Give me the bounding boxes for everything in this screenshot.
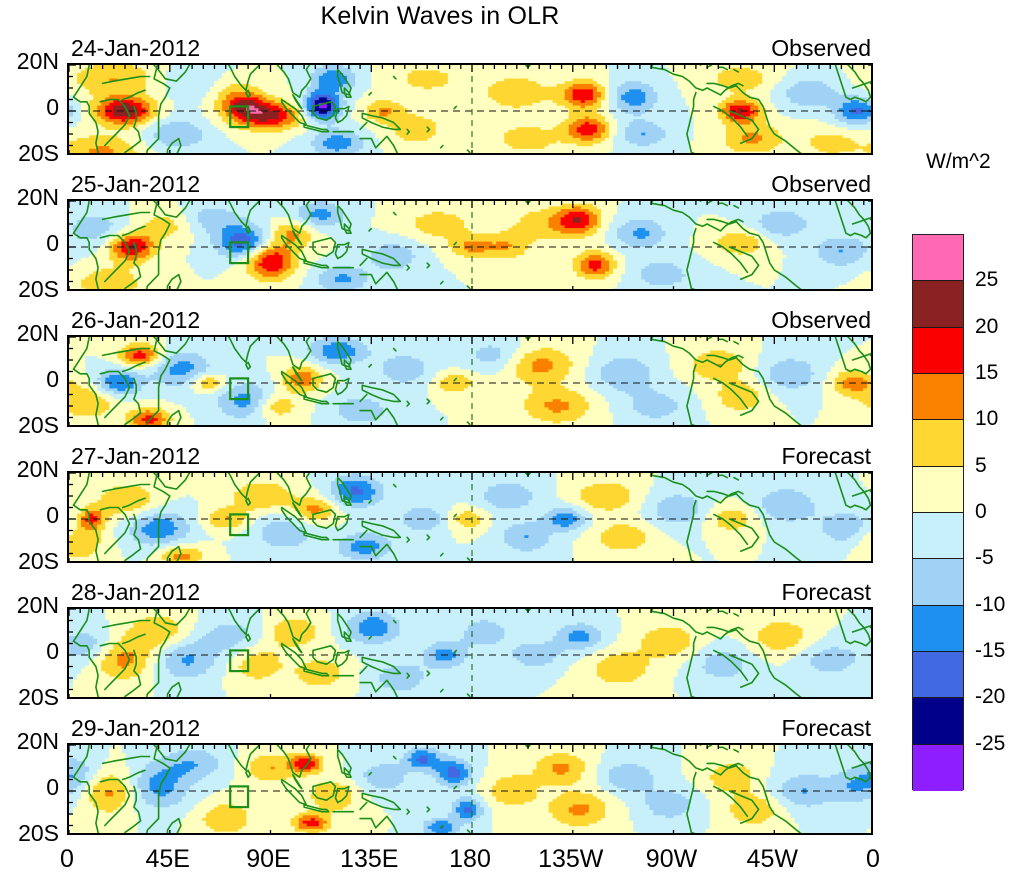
x-tick-label: 0	[22, 845, 112, 874]
panel-kind-label: Forecast	[782, 715, 871, 742]
panel-map-area	[67, 63, 873, 155]
colorbar-band	[913, 328, 963, 374]
map-panel-3: 26-Jan-2012Observed	[67, 335, 873, 427]
y-tick-label: 20N	[0, 184, 59, 211]
page-title: Kelvin Waves in OLR	[0, 2, 880, 31]
x-tick-label: 45E	[123, 845, 213, 874]
map-panel-6: 29-Jan-2012Forecast	[67, 743, 873, 835]
y-tick-label: 20N	[0, 456, 59, 483]
colorbar-tick-label: 0	[975, 500, 987, 524]
colorbar-tick-label: 25	[975, 268, 998, 292]
colorbar-tick-label: 20	[975, 315, 998, 339]
colorbar-tick-label: -10	[975, 593, 1005, 617]
colorbar	[912, 234, 964, 790]
y-tick-label: 0	[0, 366, 59, 393]
panel-date-label: 28-Jan-2012	[71, 579, 200, 606]
panel-kind-label: Forecast	[782, 443, 871, 470]
panel-date-label: 26-Jan-2012	[71, 307, 200, 334]
y-tick-label: 20S	[0, 548, 59, 575]
colorbar-tick-label: 15	[975, 361, 998, 385]
colorbar-tick-label: -15	[975, 639, 1005, 663]
colorbar-band	[913, 745, 963, 791]
panel-map-area	[67, 335, 873, 427]
colorbar-tick-label: 5	[975, 454, 987, 478]
y-tick-label: 20N	[0, 728, 59, 755]
y-tick-label: 20N	[0, 48, 59, 75]
colorbar-band	[913, 281, 963, 327]
colorbar-tick-label: -5	[975, 546, 994, 570]
colorbar-band	[913, 513, 963, 559]
y-tick-label: 20S	[0, 820, 59, 847]
colorbar-tick-label: -25	[975, 732, 1005, 756]
colorbar-band	[913, 698, 963, 744]
y-tick-label: 0	[0, 502, 59, 529]
y-tick-label: 0	[0, 638, 59, 665]
map-panel-2: 25-Jan-2012Observed	[67, 199, 873, 291]
y-tick-label: 20N	[0, 320, 59, 347]
colorbar-band	[913, 467, 963, 513]
colorbar-band	[913, 374, 963, 420]
y-tick-label: 20S	[0, 140, 59, 167]
y-tick-label: 0	[0, 230, 59, 257]
panel-map-area	[67, 743, 873, 835]
colorbar-unit-label: W/m^2	[926, 150, 991, 174]
panel-kind-label: Observed	[771, 35, 871, 62]
x-tick-label: 45W	[727, 845, 817, 874]
map-panel-5: 28-Jan-2012Forecast	[67, 607, 873, 699]
x-tick-label: 180	[425, 845, 515, 874]
x-tick-label: 0	[828, 845, 918, 874]
x-tick-label: 135E	[324, 845, 414, 874]
y-tick-label: 20S	[0, 412, 59, 439]
panel-kind-label: Observed	[771, 171, 871, 198]
y-tick-label: 0	[0, 774, 59, 801]
y-tick-label: 0	[0, 94, 59, 121]
panel-date-label: 25-Jan-2012	[71, 171, 200, 198]
colorbar-band	[913, 652, 963, 698]
colorbar-band	[913, 559, 963, 605]
y-tick-label: 20S	[0, 276, 59, 303]
colorbar-band	[913, 420, 963, 466]
colorbar-tick-label: -20	[975, 685, 1005, 709]
map-panel-4: 27-Jan-2012Forecast	[67, 471, 873, 563]
x-tick-label: 90E	[224, 845, 314, 874]
y-tick-label: 20S	[0, 684, 59, 711]
colorbar-tick-label: 10	[975, 407, 998, 431]
figure-root: Kelvin Waves in OLR 24-Jan-2012Observed2…	[0, 0, 1021, 887]
panel-map-area	[67, 199, 873, 291]
panel-date-label: 27-Jan-2012	[71, 443, 200, 470]
y-tick-label: 20N	[0, 592, 59, 619]
panel-map-area	[67, 607, 873, 699]
panel-date-label: 29-Jan-2012	[71, 715, 200, 742]
panel-date-label: 24-Jan-2012	[71, 35, 200, 62]
map-panel-1: 24-Jan-2012Observed	[67, 63, 873, 155]
panel-kind-label: Observed	[771, 307, 871, 334]
x-tick-label: 135W	[526, 845, 616, 874]
x-tick-label: 90W	[627, 845, 717, 874]
panel-map-area	[67, 471, 873, 563]
panel-kind-label: Forecast	[782, 579, 871, 606]
colorbar-band	[913, 606, 963, 652]
colorbar-band	[913, 235, 963, 281]
